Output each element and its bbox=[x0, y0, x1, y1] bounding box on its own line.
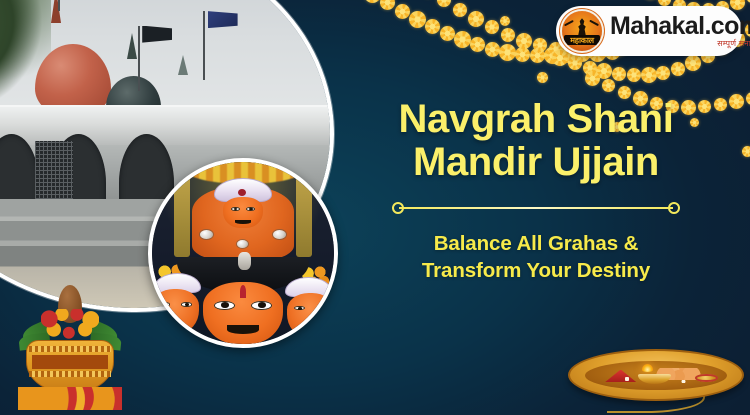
divider-dot-right bbox=[668, 202, 680, 214]
marigold-flower bbox=[583, 61, 597, 75]
deity-mouth bbox=[235, 220, 251, 223]
marigold-flower bbox=[425, 19, 440, 34]
brand-name: Mahakal.com bbox=[610, 14, 750, 39]
moustache-knot bbox=[238, 252, 251, 269]
marigold-flower bbox=[454, 31, 471, 48]
marigold-flower bbox=[485, 20, 499, 34]
deity-face-main bbox=[203, 282, 283, 344]
deity-eye bbox=[214, 301, 235, 310]
deity-eye bbox=[181, 302, 191, 306]
thali-plate bbox=[568, 349, 744, 401]
page-title: Navgrah Shani Mandir Ujjain bbox=[336, 98, 736, 184]
kalash-base-garland bbox=[18, 387, 122, 410]
marigold-flower bbox=[516, 33, 532, 49]
rice-grains bbox=[622, 377, 632, 380]
temple-spire bbox=[178, 55, 188, 75]
deity-eye bbox=[294, 306, 304, 310]
marigold-flower bbox=[602, 79, 615, 92]
silver-ornament bbox=[237, 240, 248, 248]
temple-spire bbox=[127, 33, 137, 59]
pot-motif bbox=[32, 355, 107, 369]
shiva-deity-silhouette-icon: महाकाल bbox=[562, 11, 602, 51]
rice-grains bbox=[679, 380, 689, 383]
headline-line-2: Mandir Ujjain bbox=[336, 141, 736, 184]
silver-ornament bbox=[200, 230, 213, 239]
marigold-flower bbox=[568, 56, 582, 70]
marigold-flower bbox=[499, 44, 516, 61]
deity-face-right bbox=[287, 293, 334, 337]
shrine-pillar bbox=[174, 169, 190, 256]
flag-pole bbox=[203, 11, 205, 80]
deity-mouth bbox=[227, 325, 259, 334]
marigold-flower bbox=[364, 0, 381, 3]
headline-line-1: Navgrah Shani bbox=[336, 98, 736, 141]
marigold-flower bbox=[470, 37, 485, 52]
deity-eye bbox=[231, 207, 240, 211]
brand-tagline: सम्पूर्ण सनातन bbox=[610, 40, 750, 48]
deity-eye bbox=[316, 306, 326, 310]
pot-band bbox=[29, 346, 111, 353]
deity-figure bbox=[575, 18, 589, 36]
marigold-flower bbox=[552, 50, 568, 66]
deity-arm-right bbox=[589, 20, 599, 27]
thali-plate-inner bbox=[585, 361, 726, 391]
marigold-flower bbox=[671, 62, 685, 76]
marigold-flower bbox=[627, 68, 641, 82]
badge-label: महाकाल bbox=[564, 35, 601, 45]
deity-eye bbox=[251, 301, 272, 310]
deity-arm-left bbox=[564, 20, 574, 27]
deity-mouth bbox=[301, 327, 320, 332]
divider-line bbox=[399, 207, 673, 209]
deity-face-upper bbox=[223, 197, 263, 228]
marigold-flower bbox=[380, 0, 395, 10]
divider-dot-left bbox=[392, 202, 404, 214]
pot-band bbox=[29, 371, 111, 378]
flag-pole bbox=[58, 0, 60, 11]
marigold-flower bbox=[409, 11, 426, 28]
subhead-line-1: Balance All Grahas & bbox=[336, 231, 736, 257]
logo-text-group: Mahakal.com सम्पूर्ण सनातन bbox=[610, 14, 750, 48]
subhead-line-2: Transform Your Destiny bbox=[336, 258, 736, 284]
offering-coin bbox=[695, 374, 718, 382]
marigold-flower bbox=[500, 16, 510, 26]
flag-pole bbox=[138, 26, 140, 91]
marigold-flower bbox=[395, 4, 410, 19]
deity-mouth bbox=[166, 323, 185, 328]
kalash-neck-garland bbox=[41, 309, 99, 342]
marigold-flower bbox=[730, 0, 745, 10]
deity-tilak bbox=[240, 285, 246, 299]
temple-roofline bbox=[0, 105, 330, 145]
deity-face-left bbox=[152, 289, 199, 333]
page-subtitle: Balance All Grahas & Transform Your Dest… bbox=[336, 231, 736, 283]
shrine-pillar bbox=[296, 169, 312, 256]
diya-flame bbox=[642, 364, 653, 372]
marigold-flower bbox=[537, 72, 548, 83]
headline-block: Navgrah Shani Mandir Ujjain Balance All … bbox=[336, 98, 736, 284]
temple-spire bbox=[51, 0, 61, 23]
deity-eye bbox=[160, 302, 170, 306]
marigold-flower bbox=[437, 0, 451, 7]
deity-closeup-photo bbox=[148, 158, 338, 348]
marigold-flower bbox=[746, 0, 750, 3]
marigold-flower bbox=[742, 146, 750, 157]
marigold-flower bbox=[468, 11, 484, 27]
promotional-banner: महाकाल Mahakal.com सम्पूर्ण सनातन Navgra… bbox=[0, 0, 750, 415]
marigold-flower bbox=[746, 92, 750, 105]
brand-logo[interactable]: महाकाल Mahakal.com सम्पूर्ण सनातन bbox=[556, 6, 742, 56]
marigold-flower bbox=[596, 63, 612, 79]
marigold-flower bbox=[515, 47, 530, 62]
marigold-flower bbox=[530, 48, 545, 63]
ornamental-line-divider bbox=[392, 201, 680, 215]
marigold-flower bbox=[501, 28, 515, 42]
marigold-flower bbox=[485, 42, 500, 57]
marigold-flower bbox=[656, 66, 670, 80]
kalash-coconut-icon bbox=[18, 282, 122, 410]
marigold-flower bbox=[612, 67, 626, 81]
marigold-flower bbox=[453, 3, 467, 17]
marigold-flower bbox=[440, 26, 455, 41]
deity-eye bbox=[246, 207, 255, 211]
temple-window-grill bbox=[35, 141, 73, 206]
marigold-flower bbox=[544, 47, 561, 64]
puja-thali-diya-icon bbox=[568, 331, 744, 413]
marigold-flower bbox=[685, 55, 701, 71]
kalash-pot bbox=[26, 340, 113, 394]
marigold-flower bbox=[641, 67, 657, 83]
silver-ornament bbox=[273, 230, 286, 239]
temple-flag-black bbox=[142, 26, 172, 43]
marigold-flower bbox=[533, 38, 547, 52]
marigold-flower bbox=[585, 71, 600, 86]
oil-lamp-diya bbox=[638, 374, 672, 384]
temple-flag-blue bbox=[208, 11, 238, 28]
crown-gem bbox=[238, 189, 246, 196]
